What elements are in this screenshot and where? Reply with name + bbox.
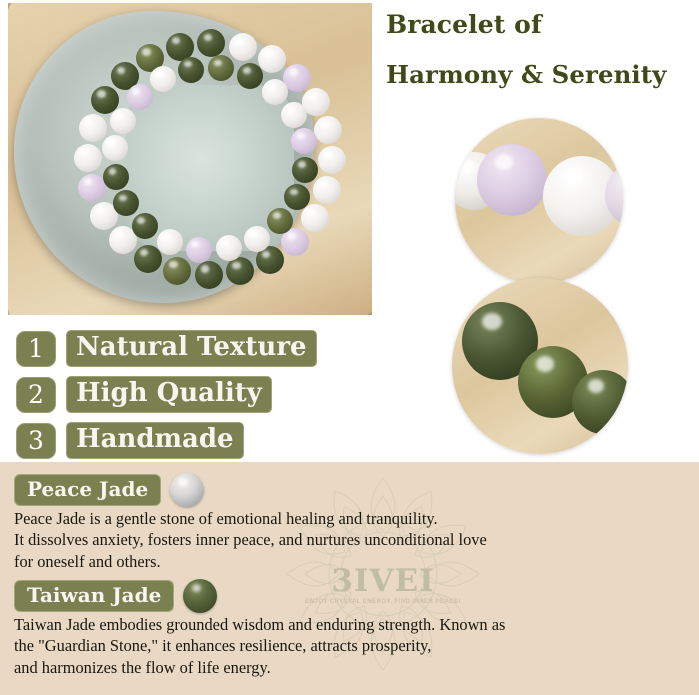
- feature-list: 1 Natural Texture 2 High Quality 3 Handm…: [16, 327, 317, 465]
- bracelet-bead: [314, 116, 342, 144]
- feature-number-badge: 3: [16, 423, 56, 459]
- bracelet-bead: [195, 261, 223, 289]
- bracelet-bead: [134, 245, 162, 273]
- taiwan-jade-closeup-photo: [452, 278, 628, 454]
- stone-header: Taiwan Jade: [14, 580, 505, 612]
- bracelet-bead: [208, 55, 234, 81]
- bracelet-bead: [150, 66, 176, 92]
- hero-product-photo: [8, 3, 372, 315]
- bracelet-bead: [216, 235, 242, 261]
- feature-label: Handmade: [66, 422, 244, 460]
- bracelet-bead: [103, 164, 129, 190]
- stone-name-badge: Taiwan Jade: [14, 580, 174, 612]
- bracelet-bead: [237, 63, 263, 89]
- bracelet-bead: [78, 174, 106, 202]
- bracelet-bead: [113, 190, 139, 216]
- feature-item: 3 Handmade: [16, 419, 317, 462]
- stone-header: Peace Jade: [14, 474, 487, 506]
- bracelet-bead: [74, 144, 102, 172]
- bracelet-bead: [132, 213, 158, 239]
- peace-jade-bead-icon: [170, 473, 204, 507]
- bracelet-bead-ring: [76, 25, 344, 293]
- bracelet-bead: [262, 79, 288, 105]
- stone-description: Peace Jade is a gentle stone of emotiona…: [14, 508, 487, 572]
- bead: [572, 370, 628, 434]
- bracelet-bead: [102, 135, 128, 161]
- bracelet-bead: [178, 57, 204, 83]
- bracelet-bead: [157, 229, 183, 255]
- title-line-1: Bracelet of: [386, 12, 692, 37]
- bracelet-bead: [229, 33, 257, 61]
- feature-number-badge: 2: [16, 377, 56, 413]
- title-line-2: Harmony & Serenity: [386, 63, 692, 87]
- peace-jade-closeup-photo: [455, 118, 623, 284]
- top-section: Bracelet of Harmony & Serenity 1 Natural…: [0, 0, 699, 462]
- stone-info-panel: 3IVEI ENJOY CRYSTAL ENERGY, FIND INNER P…: [0, 462, 699, 695]
- bracelet-bead: [79, 114, 107, 142]
- feature-label: High Quality: [66, 376, 272, 414]
- bracelet-bead: [226, 257, 254, 285]
- page-title: Bracelet of Harmony & Serenity: [386, 12, 692, 87]
- feature-item: 1 Natural Texture: [16, 327, 317, 370]
- bracelet-bead: [127, 84, 153, 110]
- bracelet-bead: [292, 157, 318, 183]
- bracelet-bead: [258, 45, 286, 73]
- bracelet-bead: [318, 146, 346, 174]
- stone-section-peace-jade: Peace Jade Peace Jade is a gentle stone …: [14, 474, 487, 572]
- stone-name-badge: Peace Jade: [14, 474, 161, 506]
- bead: [477, 144, 547, 216]
- bracelet-bead: [313, 176, 341, 204]
- bracelet-bead: [110, 108, 136, 134]
- bracelet-bead: [244, 226, 270, 252]
- bracelet-bead: [301, 204, 329, 232]
- bracelet-bead: [197, 29, 225, 57]
- taiwan-jade-bead-icon: [183, 579, 217, 613]
- feature-item: 2 High Quality: [16, 373, 317, 416]
- bracelet-bead: [186, 237, 212, 263]
- bracelet-bead: [281, 102, 307, 128]
- stone-section-taiwan-jade: Taiwan Jade Taiwan Jade embodies grounde…: [14, 580, 505, 678]
- bracelet-bead: [163, 257, 191, 285]
- feature-number-badge: 1: [16, 331, 56, 367]
- feature-label: Natural Texture: [66, 330, 317, 368]
- stone-description: Taiwan Jade embodies grounded wisdom and…: [14, 614, 505, 678]
- bracelet-bead: [291, 128, 317, 154]
